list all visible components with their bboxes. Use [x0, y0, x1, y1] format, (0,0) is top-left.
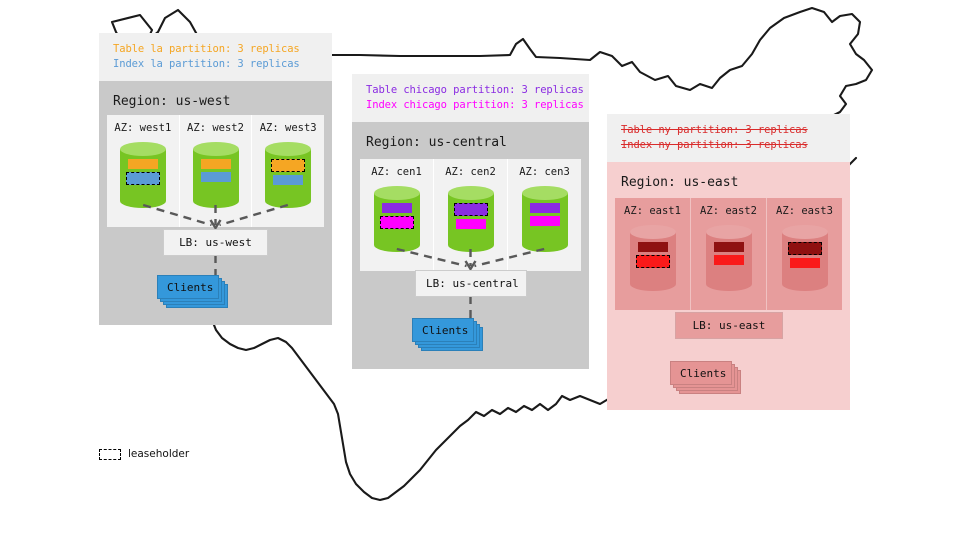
replica-bands — [265, 159, 311, 185]
az-row-us-west: AZ: west1AZ: west2AZ: west3 — [107, 115, 324, 227]
replica-bands — [522, 203, 568, 226]
cylinder-top — [706, 225, 752, 239]
replica-band — [714, 242, 744, 252]
clients-label[interactable]: Clients — [157, 275, 219, 299]
database-cylinder-icon — [265, 142, 311, 208]
az-label: AZ: cen2 — [445, 166, 496, 178]
replica-band — [201, 172, 231, 182]
load-balancer-us-east[interactable]: LB: us-east — [675, 312, 783, 339]
cylinder-top — [374, 186, 420, 200]
replica-band — [530, 203, 560, 213]
region-title-us-central: Region: us-central — [352, 122, 589, 161]
replica-band — [273, 175, 303, 185]
clients-label[interactable]: Clients — [670, 361, 732, 385]
region-box-us-west: Region: us-westAZ: west1AZ: west2AZ: wes… — [99, 81, 332, 325]
replica-bands — [120, 159, 166, 185]
az-row-us-central: AZ: cen1AZ: cen2AZ: cen3 — [360, 159, 581, 271]
replica-band-leaseholder — [380, 216, 414, 229]
region-column-us-east: Table ny partition: 3 replicasIndex ny p… — [607, 114, 850, 410]
replica-band-leaseholder — [454, 203, 488, 216]
cylinder-top — [630, 225, 676, 239]
az-cell-west1: AZ: west1 — [107, 115, 179, 227]
replica-band — [456, 219, 486, 229]
az-label: AZ: west1 — [114, 122, 171, 134]
partition-note-line: Table ny partition: 3 replicas — [621, 123, 838, 138]
cylinder-top — [448, 186, 494, 200]
replica-band-leaseholder — [271, 159, 305, 172]
replica-band — [382, 203, 412, 213]
clients-stack: Clients — [670, 361, 732, 385]
az-cell-west2: AZ: west2 — [179, 115, 252, 227]
clients-stack: Clients — [412, 318, 474, 342]
region-column-us-central: Table chicago partition: 3 replicasIndex… — [352, 74, 589, 369]
replica-bands — [193, 159, 239, 182]
az-cell-east2: AZ: east2 — [690, 198, 766, 310]
replica-bands — [630, 242, 676, 268]
az-label: AZ: west3 — [260, 122, 317, 134]
az-label: AZ: cen1 — [371, 166, 422, 178]
database-cylinder-icon — [706, 225, 752, 291]
partition-note-line: Table la partition: 3 replicas — [113, 42, 320, 57]
az-row-us-east: AZ: east1AZ: east2AZ: east3 — [615, 198, 842, 310]
partition-note-us-east: Table ny partition: 3 replicasIndex ny p… — [607, 114, 850, 162]
replica-bands — [782, 242, 828, 268]
az-cell-cen3: AZ: cen3 — [507, 159, 581, 271]
clients-node-us-west[interactable]: Clients — [157, 275, 219, 299]
region-box-us-east: Region: us-eastAZ: east1AZ: east2AZ: eas… — [607, 162, 850, 410]
clients-node-us-central[interactable]: Clients — [412, 318, 474, 342]
replica-band — [530, 216, 560, 226]
replica-bands — [706, 242, 752, 265]
database-cylinder-icon — [193, 142, 239, 208]
az-cell-cen1: AZ: cen1 — [360, 159, 433, 271]
replica-band-leaseholder — [636, 255, 670, 268]
partition-note-line: Table chicago partition: 3 replicas — [366, 83, 577, 98]
partition-note-us-west: Table la partition: 3 replicasIndex la p… — [99, 33, 332, 81]
cylinder-top — [193, 142, 239, 156]
partition-note-line: Index chicago partition: 3 replicas — [366, 98, 577, 113]
cylinder-top — [120, 142, 166, 156]
az-cell-east3: AZ: east3 — [766, 198, 842, 310]
replica-band-leaseholder — [788, 242, 822, 255]
region-box-us-central: Region: us-centralAZ: cen1AZ: cen2AZ: ce… — [352, 122, 589, 369]
cylinder-top — [522, 186, 568, 200]
legend: leaseholder — [99, 448, 189, 460]
database-cylinder-icon — [374, 186, 420, 252]
leaseholder-dashed-rect-icon — [99, 449, 121, 460]
az-label: AZ: cen3 — [519, 166, 570, 178]
partition-note-line: Index ny partition: 3 replicas — [621, 138, 838, 153]
database-cylinder-icon — [782, 225, 828, 291]
az-label: AZ: east2 — [700, 205, 757, 217]
database-cylinder-icon — [120, 142, 166, 208]
partition-note-us-central: Table chicago partition: 3 replicasIndex… — [352, 74, 589, 122]
az-cell-cen2: AZ: cen2 — [433, 159, 507, 271]
diagram-canvas: Table la partition: 3 replicasIndex la p… — [0, 0, 960, 540]
region-column-us-west: Table la partition: 3 replicasIndex la p… — [99, 33, 332, 325]
database-cylinder-icon — [522, 186, 568, 252]
replica-band — [128, 159, 158, 169]
replica-band — [201, 159, 231, 169]
legend-label: leaseholder — [128, 448, 189, 460]
az-label: AZ: west2 — [187, 122, 244, 134]
az-cell-west3: AZ: west3 — [251, 115, 324, 227]
clients-node-us-east[interactable]: Clients — [670, 361, 732, 385]
replica-band-leaseholder — [126, 172, 160, 185]
az-label: AZ: east3 — [776, 205, 833, 217]
az-cell-east1: AZ: east1 — [615, 198, 690, 310]
replica-band — [638, 242, 668, 252]
cylinder-top — [265, 142, 311, 156]
region-title-us-east: Region: us-east — [607, 162, 850, 201]
replica-bands — [374, 203, 420, 229]
database-cylinder-icon — [448, 186, 494, 252]
partition-note-line: Index la partition: 3 replicas — [113, 57, 320, 72]
load-balancer-us-central[interactable]: LB: us-central — [415, 270, 527, 297]
cylinder-top — [782, 225, 828, 239]
load-balancer-us-west[interactable]: LB: us-west — [163, 229, 268, 256]
clients-stack: Clients — [157, 275, 219, 299]
replica-bands — [448, 203, 494, 229]
replica-band — [714, 255, 744, 265]
clients-label[interactable]: Clients — [412, 318, 474, 342]
database-cylinder-icon — [630, 225, 676, 291]
replica-band — [790, 258, 820, 268]
az-label: AZ: east1 — [624, 205, 681, 217]
